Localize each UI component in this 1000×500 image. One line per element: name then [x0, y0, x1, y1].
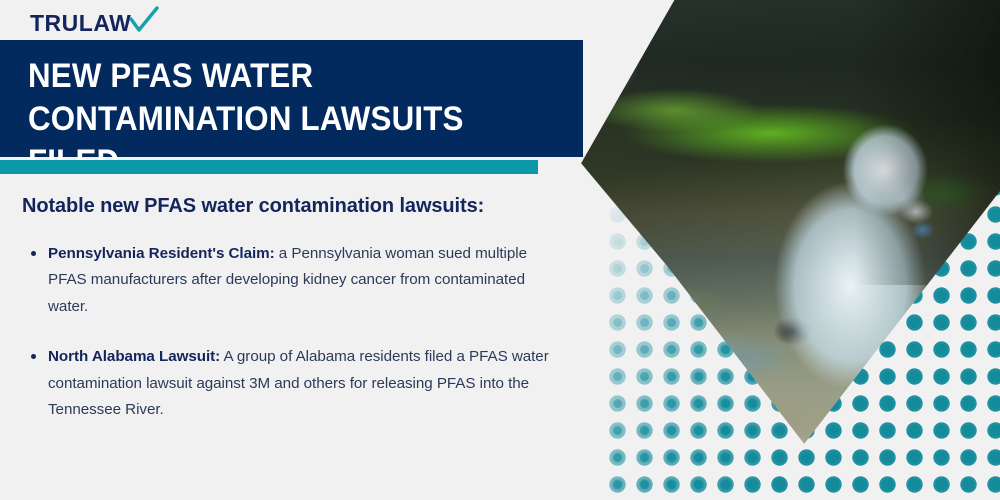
subheading: Notable new PFAS water contamination law… — [22, 192, 567, 221]
trulaw-logo[interactable]: TRULAW — [30, 8, 159, 38]
photo-shadow-overlay — [855, 0, 1000, 285]
list-item-lead: Pennsylvania Resident's Claim: — [48, 245, 275, 262]
infographic-canvas: TRULAW NEW PFAS WATER CONTAMINATION LAWS… — [0, 0, 1000, 500]
list-item: Pennsylvania Resident's Claim: a Pennsyl… — [22, 241, 567, 320]
hazmat-water-sampling-photo — [560, 0, 1000, 460]
body-content: Notable new PFAS water contamination law… — [22, 192, 567, 424]
list-item-lead: North Alabama Lawsuit: — [48, 348, 220, 365]
lawsuit-list: Pennsylvania Resident's Claim: a Pennsyl… — [22, 241, 567, 424]
checkmark-icon — [129, 6, 159, 34]
logo-wordmark: TRULAW — [30, 12, 131, 35]
list-item: North Alabama Lawsuit: A group of Alabam… — [22, 344, 567, 423]
headline-panel: NEW PFAS WATER CONTAMINATION LAWSUITS FI… — [0, 40, 583, 157]
teal-accent-bar — [0, 160, 538, 174]
